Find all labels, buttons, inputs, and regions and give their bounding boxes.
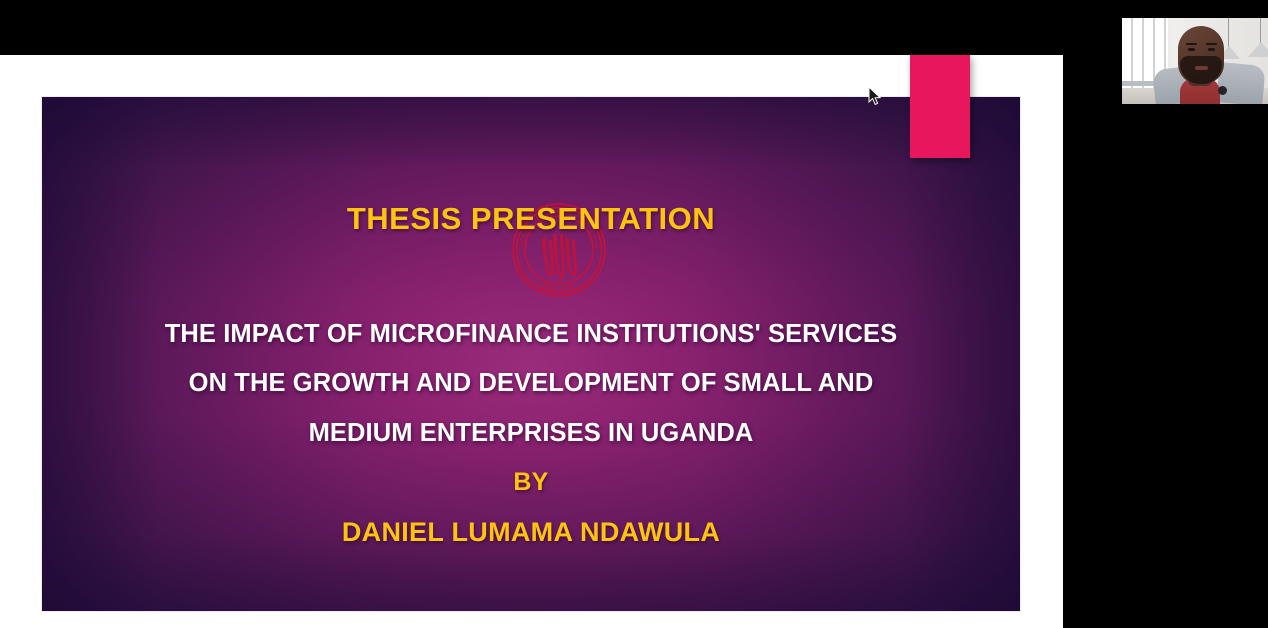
svg-text:南开大学: 南开大学 [541,280,577,294]
webcam-eye-left [1188,48,1195,51]
svg-text:1919: 1919 [555,276,565,281]
webcam-mouth [1195,66,1208,70]
webcam-lamp-cord-b [1260,18,1261,43]
pink-accent-block [910,55,970,158]
slide-subtitle-line-3: MEDIUM ENTERPRISES IN UGANDA [42,419,1020,448]
webcam-eyebrow-left [1186,43,1197,45]
webcam-eye-right [1208,48,1215,51]
slide-canvas[interactable]: 1919 NANKAI UNIVERSITY OF CHINA 南开大学 THE… [42,97,1020,611]
screen-capture: 1919 NANKAI UNIVERSITY OF CHINA 南开大学 THE… [0,0,1268,628]
slide-vignette-horizontal [42,97,1020,611]
webcam-scene [1122,18,1268,104]
webcam-lapel-microphone [1218,86,1227,95]
slide-subtitle-line-2: ON THE GROWTH AND DEVELOPMENT OF SMALL A… [42,369,1020,398]
slide-subtitle-line-1: THE IMPACT OF MICROFINANCE INSTITUTIONS'… [42,320,1020,349]
webcam-pendant-lamp-b [1248,42,1268,57]
slide-author-name: DANIEL LUMAMA NDAWULA [42,517,1020,548]
slide-by-label: BY [42,468,1020,497]
slide-vignette-vertical [42,97,1020,611]
webcam-jacket-right [1216,62,1265,104]
presenter-video-tile[interactable] [1122,18,1268,104]
webcam-lamp-cord-a [1228,18,1229,47]
university-seal-icon: 1919 NANKAI UNIVERSITY OF CHINA 南开大学 [508,200,610,300]
webcam-eyebrow-right [1206,43,1217,45]
